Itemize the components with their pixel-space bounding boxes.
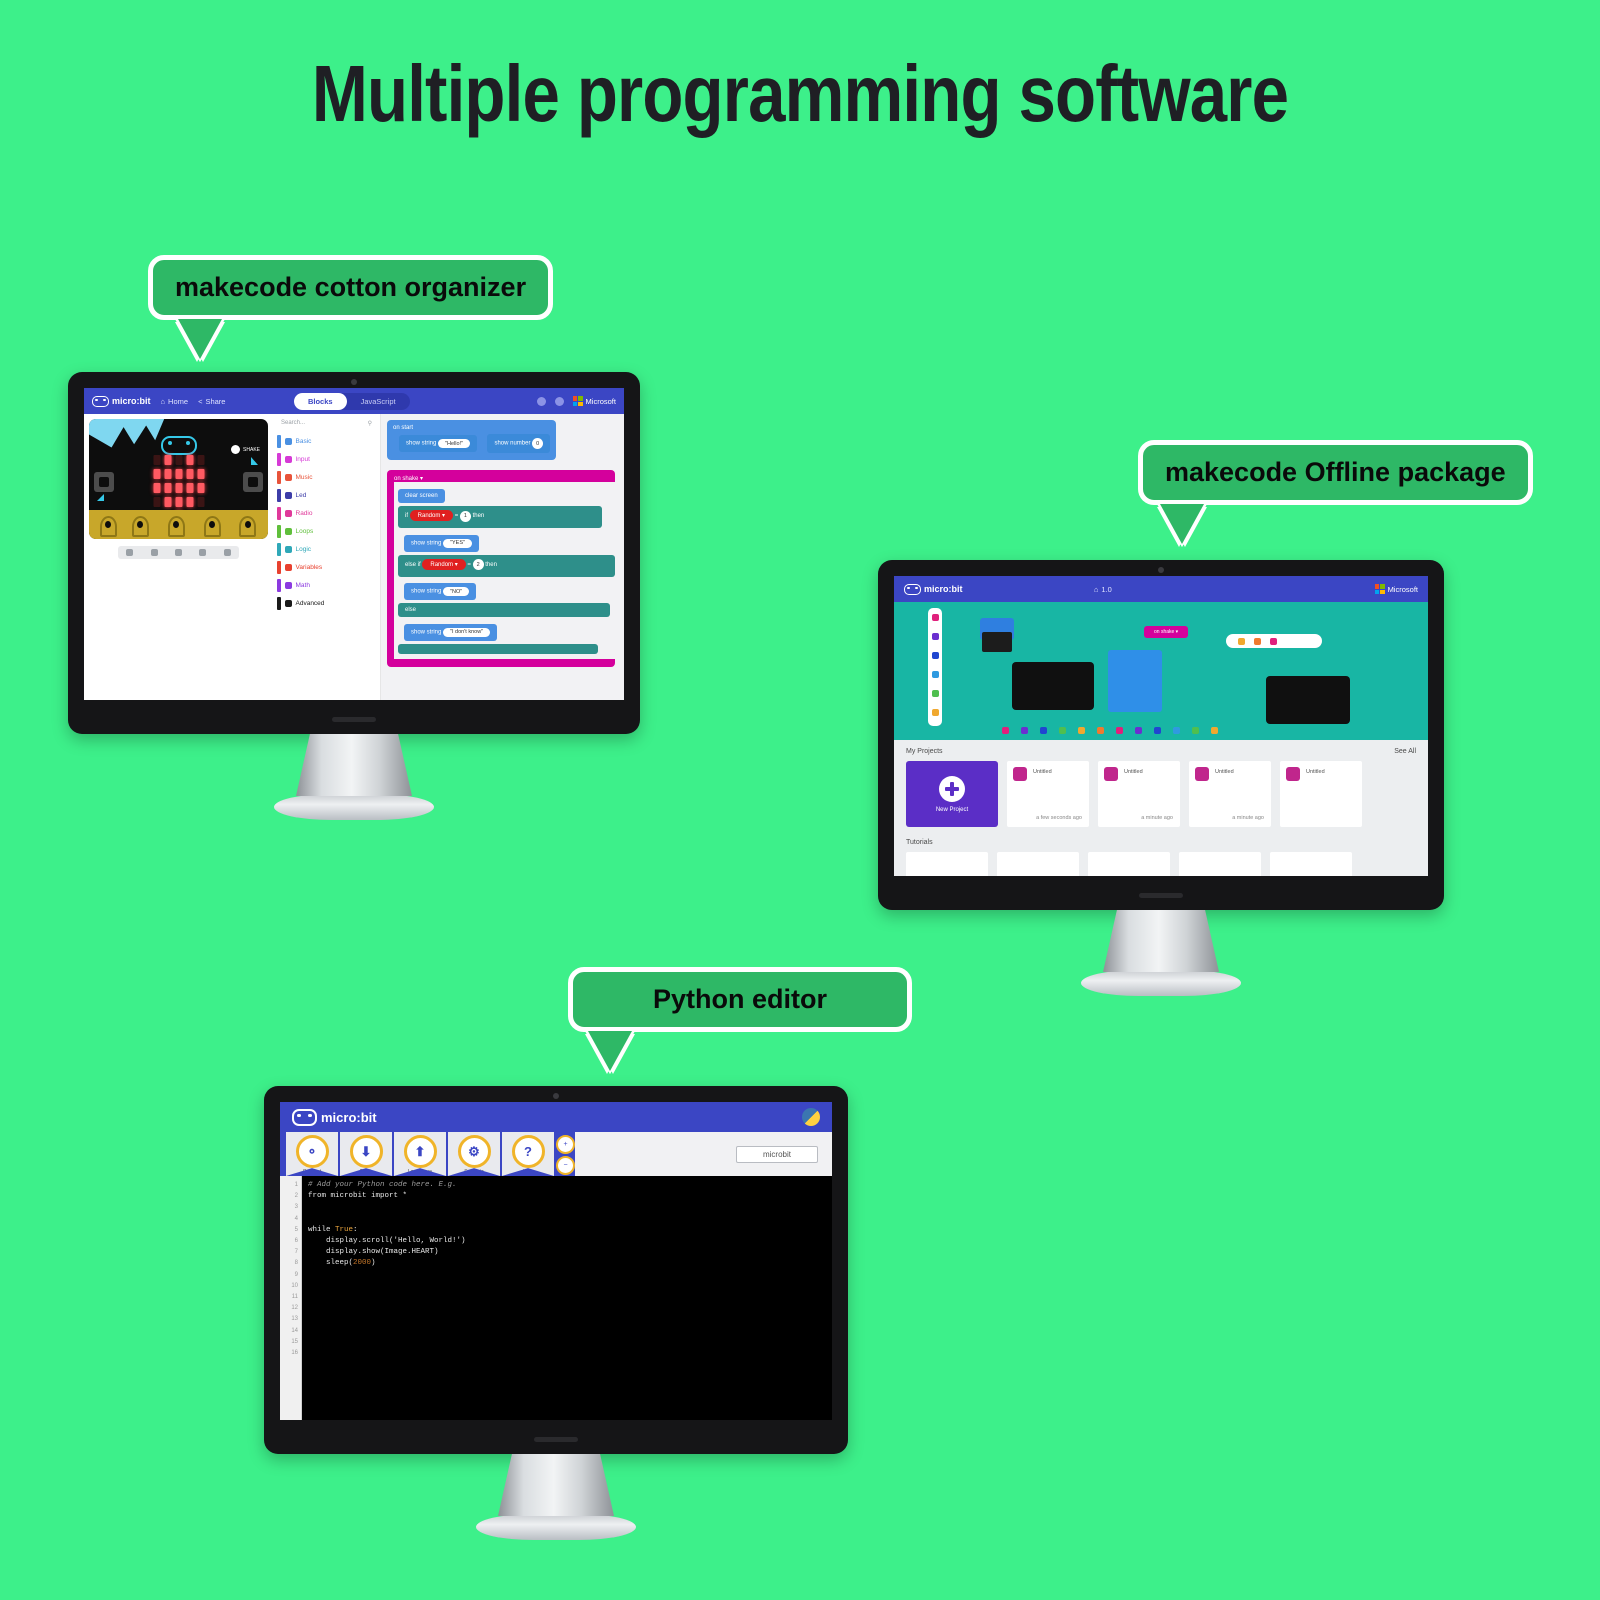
toolbox-category-advanced[interactable]: Advanced bbox=[273, 594, 380, 612]
tool-label: Load/Save bbox=[408, 1169, 432, 1175]
led-pixel bbox=[197, 483, 204, 493]
field-idk-value[interactable]: "I don't know" bbox=[443, 628, 490, 637]
tutorial-card[interactable] bbox=[1270, 852, 1352, 876]
share-icon: < bbox=[198, 397, 202, 406]
led-pixel bbox=[153, 497, 160, 507]
python-tool-flash[interactable]: ⬇Flash bbox=[340, 1132, 392, 1176]
shake-label: SHAKE bbox=[243, 447, 260, 453]
category-icon bbox=[285, 528, 292, 535]
led-pixel bbox=[186, 469, 193, 479]
code-text-area[interactable]: # Add your Python code here. E.g.from mi… bbox=[302, 1176, 832, 1420]
line-number: 2 bbox=[280, 1191, 298, 1202]
category-icon bbox=[285, 564, 292, 571]
category-label: Radio bbox=[296, 510, 313, 517]
line-number: 11 bbox=[280, 1292, 298, 1303]
see-all-link[interactable]: See All bbox=[1394, 748, 1416, 755]
code-line: from microbit import * bbox=[308, 1191, 832, 1202]
microbit-brand: micro:bit bbox=[321, 1110, 377, 1125]
makecode-header: micro:bit ⌂ Home < Share Blocks JavaScri… bbox=[84, 388, 624, 414]
field-value-2[interactable]: 2 bbox=[473, 559, 484, 570]
microbit-brand: micro:bit bbox=[924, 584, 963, 594]
microsoft-grid-icon bbox=[573, 396, 583, 406]
line-number: 7 bbox=[280, 1247, 298, 1258]
category-icon bbox=[285, 600, 292, 607]
block-show-string[interactable]: show string "Hello!" bbox=[399, 435, 477, 452]
led-strip-right-dots bbox=[1238, 638, 1277, 645]
block-show-string-yes[interactable]: show string "YES" bbox=[404, 535, 479, 552]
callout-tail bbox=[1160, 504, 1204, 544]
code-editor[interactable]: 12345678910111213141516 # Add your Pytho… bbox=[280, 1176, 832, 1420]
callout-label-makecode-online: makecode cotton organizer bbox=[148, 255, 553, 320]
block-clear-screen[interactable]: clear screen bbox=[398, 489, 445, 503]
block-label-show-number: show number bbox=[494, 441, 530, 447]
sim-button-a[interactable] bbox=[94, 472, 114, 492]
label-show-string-3: show string bbox=[411, 589, 441, 595]
section-header-projects: My Projects See All bbox=[906, 748, 1416, 755]
callout-makecode-offline: makecode Offline package bbox=[1138, 440, 1533, 505]
monitor-bezel: micro:bit ⌂ 1.0 Microsoft bbox=[878, 560, 1444, 910]
monitor-base bbox=[476, 1514, 636, 1540]
toolbox-category-math[interactable]: Math bbox=[273, 576, 380, 594]
python-tool-snippets[interactable]: ⚙Snippets bbox=[448, 1132, 500, 1176]
category-label: Advanced bbox=[296, 600, 325, 607]
slow-motion-icon[interactable] bbox=[175, 549, 182, 556]
compare-op-1[interactable]: = bbox=[455, 513, 459, 519]
menu-home-label: Home bbox=[168, 397, 188, 406]
filename-bar: microbit bbox=[575, 1132, 832, 1176]
project-title: Untitled bbox=[1306, 769, 1325, 775]
category-color-bar bbox=[277, 453, 281, 466]
toolbox-category-input[interactable]: Input bbox=[273, 450, 380, 468]
code-line bbox=[308, 1202, 832, 1213]
sound-icon[interactable] bbox=[199, 549, 206, 556]
line-number: 10 bbox=[280, 1281, 298, 1292]
section-title-tutorials: Tutorials bbox=[906, 839, 933, 846]
project-card[interactable]: Untitled bbox=[1280, 761, 1362, 827]
python-tool-load-save[interactable]: ⬆Load/Save bbox=[394, 1132, 446, 1176]
search-placeholder: Search... bbox=[281, 420, 305, 427]
line-number: 9 bbox=[280, 1270, 298, 1281]
line-number: 1 bbox=[280, 1180, 298, 1191]
offline-hero-banner: on shake ▾ bbox=[894, 602, 1428, 740]
category-color-bar bbox=[277, 543, 281, 556]
toolbox-category-led[interactable]: Led bbox=[273, 486, 380, 504]
microbit-logo: micro:bit bbox=[292, 1109, 377, 1126]
project-timestamp: a few seconds ago bbox=[1036, 815, 1082, 821]
callout-makecode-online: makecode cotton organizer bbox=[148, 255, 553, 320]
callout-python-editor: Python editor bbox=[568, 967, 912, 1032]
simulator-controls[interactable] bbox=[118, 546, 240, 559]
field-yes-value[interactable]: "YES" bbox=[443, 539, 472, 548]
toolbox-category-logic[interactable]: Logic bbox=[273, 540, 380, 558]
fullscreen-icon[interactable] bbox=[224, 549, 231, 556]
monitor-makecode-offline: micro:bit ⌂ 1.0 Microsoft bbox=[878, 560, 1444, 996]
edge-connector bbox=[89, 510, 268, 539]
sky-decoration bbox=[89, 419, 164, 460]
tutorial-card-row bbox=[906, 852, 1416, 876]
code-block-chip: on shake ▾ bbox=[1144, 626, 1188, 638]
field-value-1[interactable]: 1 bbox=[460, 511, 471, 522]
block-show-string-idk[interactable]: show string "I don't know" bbox=[404, 624, 497, 641]
tool-label: Snippets bbox=[464, 1169, 483, 1175]
led-pixel bbox=[175, 455, 182, 465]
block-label-on-start: on start bbox=[393, 425, 550, 431]
callout-tail bbox=[178, 319, 222, 359]
line-number: 16 bbox=[280, 1348, 298, 1359]
shake-dot-icon bbox=[231, 445, 240, 454]
python-logo-icon bbox=[802, 1108, 820, 1126]
microsoft-label: Microsoft bbox=[586, 397, 616, 406]
tab-javascript[interactable]: JavaScript bbox=[347, 393, 410, 410]
plus-icon bbox=[939, 776, 965, 802]
led-pixel bbox=[153, 469, 160, 479]
callout-label-python-editor: Python editor bbox=[568, 967, 912, 1032]
led-pixel bbox=[197, 469, 204, 479]
page-title: Multiple programming software bbox=[128, 48, 1472, 140]
microbit-simulator: SHAKE bbox=[89, 419, 268, 539]
microbit-brand: micro:bit bbox=[112, 396, 151, 406]
line-number: 12 bbox=[280, 1303, 298, 1314]
category-color-bar bbox=[277, 435, 281, 448]
led-pixel bbox=[175, 483, 182, 493]
home-icon: ⌂ bbox=[161, 397, 166, 406]
category-color-bar bbox=[277, 579, 281, 592]
monitor-bezel: micro:bit ⌂ Home < Share Blocks JavaScri… bbox=[68, 372, 640, 734]
block-if-end bbox=[398, 644, 598, 654]
microbit-logo: micro:bit bbox=[92, 396, 151, 407]
section-title-projects: My Projects bbox=[906, 748, 943, 755]
code-line: # Add your Python code here. E.g. bbox=[308, 1180, 832, 1191]
menu-version-label: 1.0 bbox=[1101, 585, 1111, 594]
toolbox-search[interactable]: Search... ⚲ bbox=[273, 418, 380, 432]
code-line bbox=[308, 1214, 832, 1225]
new-project-card[interactable]: New Project bbox=[906, 761, 998, 827]
block-show-string-no[interactable]: show string "NO" bbox=[404, 583, 476, 600]
var-random-1[interactable]: Random ▾ bbox=[410, 510, 453, 521]
led-pixel bbox=[153, 483, 160, 493]
led-pixel bbox=[186, 455, 193, 465]
help-icon[interactable] bbox=[537, 397, 546, 406]
on-shake-text: on shake bbox=[394, 476, 418, 482]
category-color-bar bbox=[277, 525, 281, 538]
microbit-board-left bbox=[1012, 662, 1094, 710]
python-header: micro:bit bbox=[280, 1102, 832, 1132]
tutorial-card[interactable] bbox=[997, 852, 1079, 876]
search-icon: ⚲ bbox=[368, 420, 372, 427]
menu-item-share[interactable]: < Share bbox=[198, 397, 225, 406]
category-icon bbox=[285, 510, 292, 517]
compare-op-2[interactable]: = bbox=[467, 562, 471, 568]
monitor-base bbox=[274, 794, 434, 820]
line-number: 13 bbox=[280, 1314, 298, 1325]
category-color-bar bbox=[277, 597, 281, 610]
python-toolbar: ⚬Connect⬇Flash⬆Load/Save⚙Snippets?Help +… bbox=[280, 1132, 832, 1176]
project-title: Untitled bbox=[1124, 769, 1143, 775]
microbit-face-icon bbox=[292, 1109, 317, 1126]
category-color-bar bbox=[277, 507, 281, 520]
microbit-logo-icon bbox=[161, 436, 197, 455]
sim-button-b[interactable] bbox=[243, 472, 263, 492]
microsoft-logo: Microsoft bbox=[573, 396, 616, 406]
toolbox-category-loops[interactable]: Loops bbox=[273, 522, 380, 540]
tutorial-card[interactable] bbox=[1179, 852, 1261, 876]
python-tool-connect[interactable]: ⚬Connect bbox=[286, 1132, 338, 1176]
block-label-on-shake: on shake ▾ bbox=[387, 475, 615, 482]
category-icon bbox=[285, 582, 292, 589]
field-no-value[interactable]: "NO" bbox=[443, 587, 469, 596]
zoom-out-button[interactable]: − bbox=[556, 1156, 575, 1175]
new-project-label: New Project bbox=[936, 807, 968, 813]
header-right-group: Microsoft bbox=[537, 396, 616, 406]
category-icon bbox=[285, 438, 292, 445]
led-pixel bbox=[197, 497, 204, 507]
code-line: display.show(Image.HEART) bbox=[308, 1247, 832, 1258]
category-color-bar bbox=[277, 471, 281, 484]
block-label-if: if bbox=[405, 513, 408, 519]
category-label: Music bbox=[296, 474, 313, 481]
microbit-board-right bbox=[1266, 676, 1350, 724]
category-icon bbox=[285, 474, 292, 481]
monitor-makecode-online: micro:bit ⌂ Home < Share Blocks JavaScri… bbox=[68, 372, 640, 820]
line-number: 15 bbox=[280, 1337, 298, 1348]
block-label-show-string: show string bbox=[406, 441, 436, 447]
category-icon bbox=[285, 492, 292, 499]
led-pixel bbox=[186, 483, 193, 493]
project-title: Untitled bbox=[1215, 769, 1234, 775]
block-on-start[interactable]: on start show string "Hello!" show numbe… bbox=[387, 420, 556, 460]
project-card[interactable]: Untitleda few seconds ago bbox=[1007, 761, 1089, 827]
tool-label: Help bbox=[523, 1169, 533, 1175]
project-icon bbox=[1286, 767, 1300, 781]
block-show-number[interactable]: show number 0 bbox=[487, 434, 550, 453]
category-label: Math bbox=[296, 582, 310, 589]
microsoft-grid-icon bbox=[1375, 584, 1385, 594]
tutorial-card[interactable] bbox=[906, 852, 988, 876]
field-show-string-value[interactable]: "Hello!" bbox=[438, 439, 470, 448]
block-on-shake[interactable]: on shake ▾ clear screen if Random ▾ = 1 … bbox=[387, 470, 615, 667]
menu-share-label: Share bbox=[205, 397, 225, 406]
offline-header: micro:bit ⌂ 1.0 Microsoft bbox=[894, 576, 1428, 602]
python-tool-help[interactable]: ?Help bbox=[502, 1132, 554, 1176]
code-line: while True: bbox=[308, 1225, 832, 1236]
led-pixel bbox=[197, 455, 204, 465]
project-timestamp: a minute ago bbox=[1141, 815, 1173, 821]
project-icon bbox=[1104, 767, 1118, 781]
monitor-bezel: micro:bit ⚬Connect⬇Flash⬆Load/Save⚙Snipp… bbox=[264, 1086, 848, 1454]
callout-tail bbox=[588, 1031, 632, 1071]
led-pixel bbox=[164, 455, 171, 465]
toolbox-category-music[interactable]: Music bbox=[273, 468, 380, 486]
settings-icon[interactable] bbox=[555, 397, 564, 406]
led-strip-left-dots bbox=[932, 614, 939, 716]
category-label: Loops bbox=[296, 528, 314, 535]
menu-item-home-offline[interactable]: ⌂ 1.0 bbox=[1094, 585, 1112, 594]
category-color-bar bbox=[277, 489, 281, 502]
monitor-neck bbox=[1103, 910, 1219, 972]
line-number-gutter: 12345678910111213141516 bbox=[280, 1176, 302, 1420]
project-title: Untitled bbox=[1033, 769, 1052, 775]
tool-label: Flash bbox=[360, 1169, 372, 1175]
project-card[interactable]: Untitleda minute ago bbox=[1098, 761, 1180, 827]
random-label-2: Random bbox=[430, 562, 453, 568]
field-show-number-value[interactable]: 0 bbox=[532, 438, 543, 449]
monitor-python-editor: micro:bit ⚬Connect⬇Flash⬆Load/Save⚙Snipp… bbox=[264, 1086, 848, 1540]
category-label: Basic bbox=[296, 438, 312, 445]
label-show-string-2: show string bbox=[411, 540, 441, 546]
line-number: 14 bbox=[280, 1326, 298, 1337]
webcam-dot bbox=[351, 379, 357, 385]
help-icon: ? bbox=[512, 1135, 545, 1168]
led-pixel bbox=[175, 469, 182, 479]
screen-makecode-online: micro:bit ⌂ Home < Share Blocks JavaScri… bbox=[84, 388, 624, 700]
toolbox-category-basic[interactable]: Basic bbox=[273, 432, 380, 450]
line-number: 4 bbox=[280, 1214, 298, 1225]
block-else[interactable]: else bbox=[398, 603, 610, 617]
led-pixel bbox=[186, 497, 193, 507]
toolbox-category-radio[interactable]: Radio bbox=[273, 504, 380, 522]
webcam-dot bbox=[1158, 567, 1164, 573]
simulator-panel: SHAKE bbox=[84, 414, 273, 700]
led-pixel bbox=[164, 469, 171, 479]
block-label-else-if: else if bbox=[405, 562, 421, 568]
screen-makecode-offline: micro:bit ⌂ 1.0 Microsoft bbox=[894, 576, 1428, 876]
microbit-logo: micro:bit bbox=[904, 584, 963, 595]
tab-blocks[interactable]: Blocks bbox=[294, 393, 347, 410]
project-card[interactable]: Untitleda minute ago bbox=[1189, 761, 1271, 827]
tutorial-card[interactable] bbox=[1088, 852, 1170, 876]
download-icon: ⬇ bbox=[350, 1135, 383, 1168]
code-line: display.scroll('Hello, World!') bbox=[308, 1236, 832, 1247]
microsoft-logo: Microsoft bbox=[1375, 584, 1418, 594]
microbit-face-icon bbox=[904, 584, 921, 595]
line-number: 8 bbox=[280, 1258, 298, 1269]
webcam-dot bbox=[553, 1093, 559, 1099]
zoom-in-button[interactable]: + bbox=[556, 1135, 575, 1154]
block-else-if[interactable]: else if Random ▾ = 2 then bbox=[398, 555, 615, 577]
then-label-2: then bbox=[485, 562, 497, 568]
editor-tabs: Blocks JavaScript bbox=[294, 393, 410, 410]
stop-icon[interactable] bbox=[126, 549, 133, 556]
block-if[interactable]: if Random ▾ = 1 then bbox=[398, 506, 602, 528]
category-icon bbox=[285, 456, 292, 463]
home-icon: ⌂ bbox=[1094, 585, 1099, 594]
category-label: Led bbox=[296, 492, 307, 499]
label-show-string-4: show string bbox=[411, 629, 441, 635]
category-label: Input bbox=[296, 456, 310, 463]
monitor-neck bbox=[296, 734, 412, 796]
then-label-1: then bbox=[473, 513, 485, 519]
toolbox-category-variables[interactable]: Variables bbox=[273, 558, 380, 576]
section-header-tutorials: Tutorials bbox=[906, 839, 1416, 846]
upload-icon: ⬆ bbox=[404, 1135, 437, 1168]
line-number: 3 bbox=[280, 1202, 298, 1213]
code-line: sleep(2000) bbox=[308, 1258, 832, 1269]
tool-label: Connect bbox=[303, 1169, 322, 1175]
filename-input[interactable]: microbit bbox=[736, 1146, 818, 1163]
restart-icon[interactable] bbox=[151, 549, 158, 556]
project-timestamp: a minute ago bbox=[1232, 815, 1264, 821]
led-pixel bbox=[164, 497, 171, 507]
zoom-controls: + − bbox=[556, 1132, 575, 1175]
microbit-face-icon bbox=[92, 396, 109, 407]
blocks-workspace[interactable]: on start show string "Hello!" show numbe… bbox=[381, 414, 624, 700]
line-number: 5 bbox=[280, 1225, 298, 1236]
led-pixel bbox=[164, 483, 171, 493]
radio-icon bbox=[251, 457, 258, 465]
microsoft-label: Microsoft bbox=[1388, 585, 1418, 594]
monitor-base bbox=[1081, 970, 1241, 996]
monitor-neck bbox=[498, 1454, 614, 1516]
hero-bottom-dots bbox=[1002, 727, 1218, 734]
servo-body bbox=[982, 632, 1012, 652]
category-label: Logic bbox=[296, 546, 312, 553]
shake-button[interactable]: SHAKE bbox=[231, 445, 260, 454]
robot-icon: ⚬ bbox=[296, 1135, 329, 1168]
makecode-body: SHAKE bbox=[84, 414, 624, 700]
accel-icon bbox=[97, 494, 104, 501]
led-pixel bbox=[175, 497, 182, 507]
category-color-bar bbox=[277, 561, 281, 574]
var-random-2[interactable]: Random ▾ bbox=[422, 559, 465, 570]
callout-label-makecode-offline: makecode Offline package bbox=[1138, 440, 1533, 505]
led-pixel bbox=[153, 455, 160, 465]
project-icon bbox=[1195, 767, 1209, 781]
project-icon bbox=[1013, 767, 1027, 781]
category-label: Variables bbox=[296, 564, 323, 571]
project-card-list: New Project Untitleda few seconds agoUnt… bbox=[906, 761, 1416, 827]
led-display-card bbox=[1108, 650, 1162, 712]
toolbox-panel: Search... ⚲ BasicInputMusicLedRadioLoops… bbox=[273, 414, 381, 700]
chevron-down-icon[interactable]: ▾ bbox=[420, 476, 423, 482]
offline-main: My Projects See All New Project Untitled… bbox=[894, 740, 1428, 876]
puzzle-icon: ⚙ bbox=[458, 1135, 491, 1168]
line-number: 6 bbox=[280, 1236, 298, 1247]
screen-python-editor: micro:bit ⚬Connect⬇Flash⬆Load/Save⚙Snipp… bbox=[280, 1102, 832, 1420]
random-label-1: Random bbox=[418, 513, 441, 519]
menu-item-home[interactable]: ⌂ Home bbox=[161, 397, 189, 406]
category-icon bbox=[285, 546, 292, 553]
